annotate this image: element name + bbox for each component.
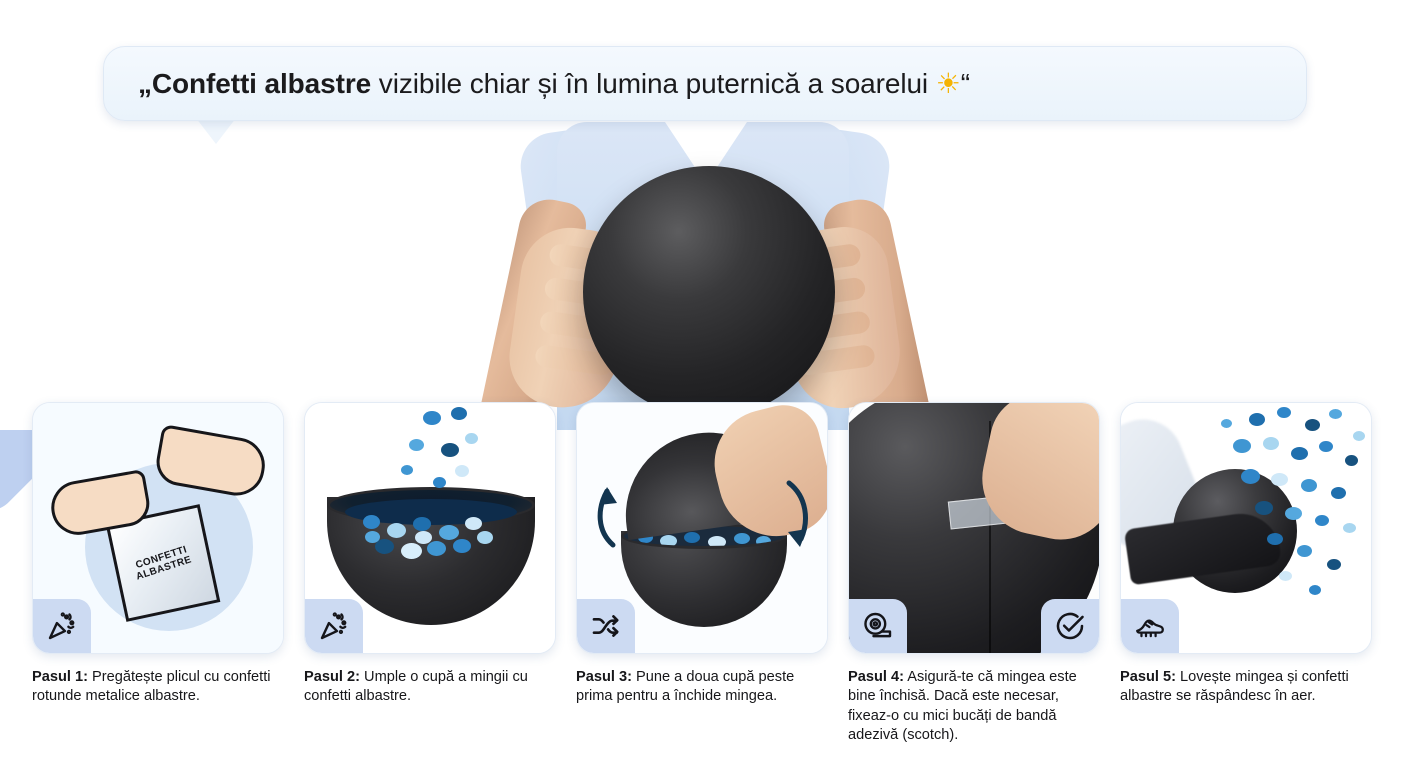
- title-speech-bubble: „Confetti albastre vizibile chiar și în …: [103, 46, 1307, 121]
- page-title: „Confetti albastre vizibile chiar și în …: [104, 67, 970, 100]
- infographic-page: „Confetti albastre vizibile chiar și în …: [0, 0, 1408, 768]
- step-4-label: Pasul 4:: [848, 669, 904, 685]
- check-circle-icon: [1041, 599, 1099, 653]
- page-title-rest: vizibile chiar și în lumina puternică a …: [371, 68, 936, 99]
- step-4-image: [848, 402, 1100, 654]
- arrow-up-icon: [587, 479, 631, 551]
- step-5-caption: Pasul 5: Lovește mingea și confetti alba…: [1120, 668, 1376, 707]
- page-title-close-quote: “: [961, 68, 970, 99]
- step-card-3: Pasul 3: Pune a doua cupă peste prima pe…: [576, 402, 828, 746]
- steps-row: CONFETTI ALBASTRE Pasul 1: P: [0, 402, 1408, 746]
- step-card-4: Pasul 4: Asigură-te că mingea este bine …: [848, 402, 1100, 746]
- party-popper-icon: [33, 599, 91, 653]
- step-card-2: Pasul 2: Umple o cupă a mingii cu confet…: [304, 402, 556, 746]
- step-card-1: CONFETTI ALBASTRE Pasul 1: P: [32, 402, 284, 746]
- step-5-label: Pasul 5:: [1120, 669, 1176, 685]
- shuffle-icon: [577, 599, 635, 653]
- football-boot-icon: [1121, 599, 1179, 653]
- step-1-caption: Pasul 1: Pregătește plicul cu confetti r…: [32, 668, 288, 707]
- arrow-down-icon: [775, 475, 819, 555]
- step-card-5: Pasul 5: Lovește mingea și confetti alba…: [1120, 402, 1372, 746]
- step-3-label: Pasul 3:: [576, 669, 632, 685]
- step-4-caption: Pasul 4: Asigură-te că mingea este bine …: [848, 668, 1104, 746]
- sun-icon: ☀: [936, 68, 961, 99]
- step-2-label: Pasul 2:: [304, 669, 360, 685]
- step-5-image: [1120, 402, 1372, 654]
- step-1-image: CONFETTI ALBASTRE: [32, 402, 284, 654]
- step-1-label: Pasul 1:: [32, 669, 88, 685]
- step-2-caption: Pasul 2: Umple o cupă a mingii cu confet…: [304, 668, 560, 707]
- party-popper-icon: [305, 599, 363, 653]
- page-title-bold: „Confetti albastre: [138, 68, 371, 99]
- step-2-image: [304, 402, 556, 654]
- speech-bubble-tail: [196, 118, 236, 144]
- tape-roll-icon: [849, 599, 907, 653]
- hero-ball: [583, 166, 835, 418]
- step-3-caption: Pasul 3: Pune a doua cupă peste prima pe…: [576, 668, 832, 707]
- step-3-image: [576, 402, 828, 654]
